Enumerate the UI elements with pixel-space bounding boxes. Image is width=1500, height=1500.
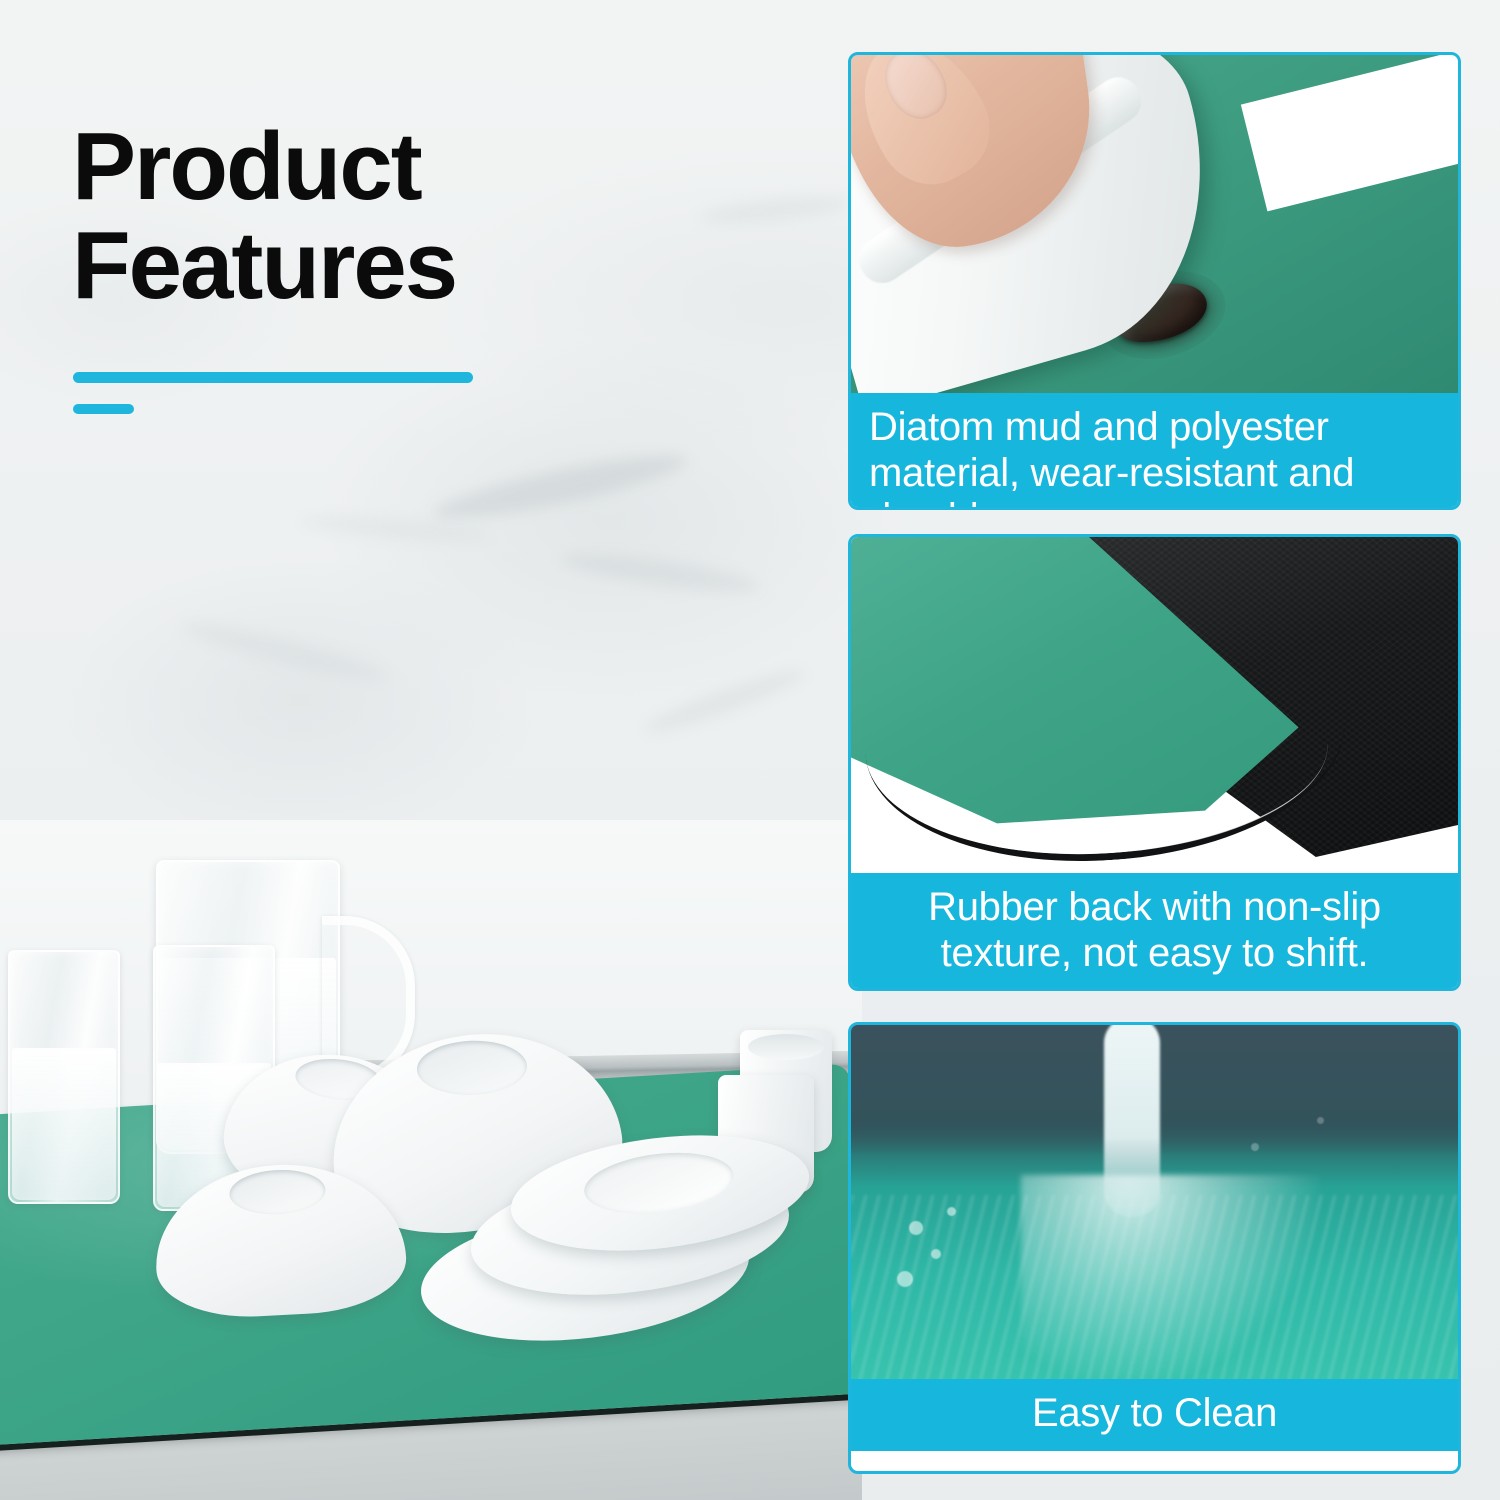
marble-wisp [429,443,690,530]
feature-photo-rubber-back [851,537,1458,873]
title-accent-bar-long [73,372,473,383]
water-bubble [1251,1143,1259,1151]
water-bubble [1317,1117,1324,1124]
title-accent-bar-short [73,404,134,414]
bowl-foot-ring [228,1168,326,1217]
feature-panel-material: Diatom mud and polyester material, wear-… [848,52,1461,510]
feature-panel-rubber-back: Rubber back with non-slip texture, not e… [848,534,1461,991]
feature-panel-easy-clean: Easy to Clean [848,1022,1461,1474]
feature-photo-easy-clean [851,1025,1458,1379]
water-bubble [897,1271,913,1287]
page-title-line-1: Product [72,118,732,217]
plate-rim [581,1145,737,1221]
marble-wisp [641,662,808,741]
infographic-canvas: Product Features [0,0,1500,1500]
water-stream [1104,1025,1160,1217]
page-title: Product Features [72,118,732,316]
photo-corner-highlight [1241,55,1458,211]
feature-photo-material [851,55,1458,393]
water-splash [1021,1175,1321,1379]
feature-caption-material: Diatom mud and polyester material, wear-… [851,393,1458,510]
feature-caption-easy-clean: Easy to Clean [851,1379,1458,1451]
feature-caption-rubber-back: Rubber back with non-slip texture, not e… [851,873,1458,990]
marble-wisp [180,615,390,689]
marble-wisp [300,512,491,546]
marble-wisp [559,546,761,600]
bowl-foot-ring [416,1039,528,1097]
water-level [12,1048,116,1200]
water-glass [8,950,120,1204]
water-bubble [931,1249,941,1259]
page-title-line-2: Features [72,217,732,316]
cup-interior [748,1034,824,1060]
hero-product-photo [0,820,862,1500]
water-bubble [909,1221,923,1235]
water-bubble [947,1207,956,1216]
